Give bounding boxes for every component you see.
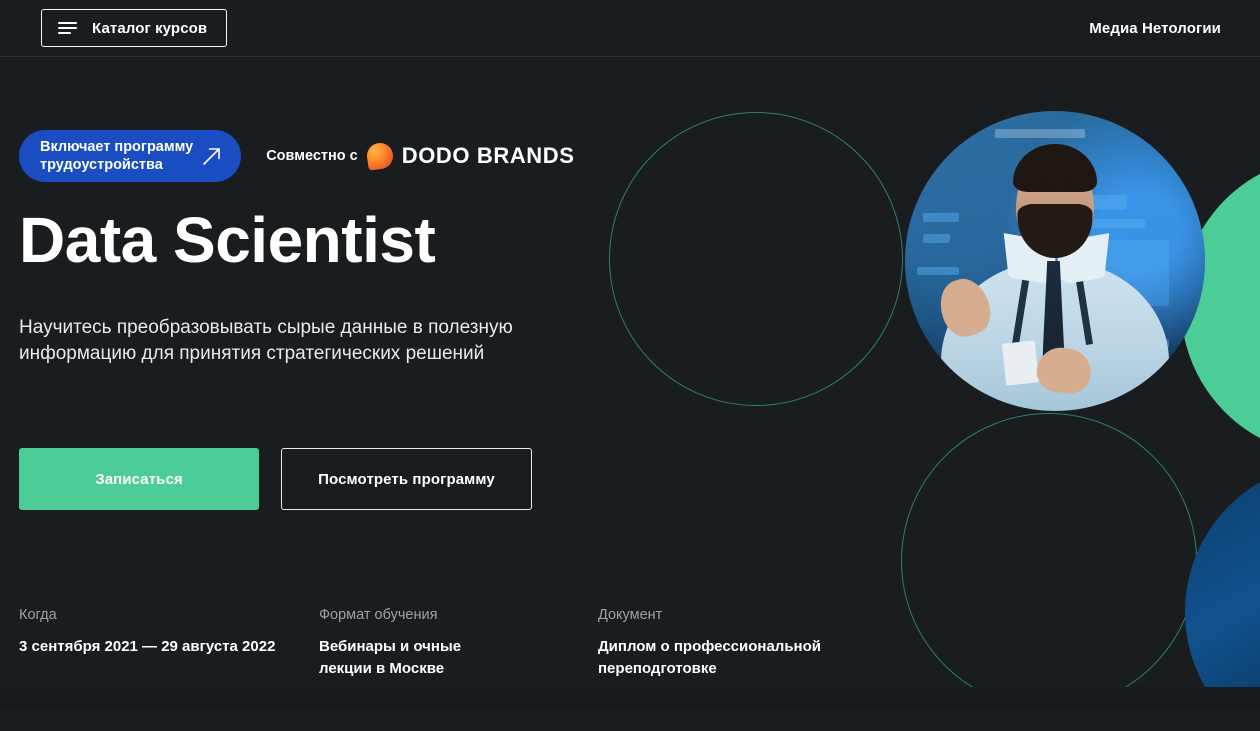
fact-label: Документ bbox=[598, 607, 898, 623]
fact-document: Документ Диплом о профессиональной переп… bbox=[598, 607, 898, 680]
hero-facts: Когда 3 сентября 2021 — 29 августа 2022 … bbox=[19, 607, 898, 680]
enroll-button[interactable]: Записаться bbox=[19, 448, 259, 510]
employment-program-badge-label: Включает программу трудоустройства bbox=[40, 138, 193, 174]
partner-block: Совместно с DODO BRANDS bbox=[266, 143, 574, 169]
media-netology-link[interactable]: Медиа Нетологии bbox=[1089, 20, 1238, 37]
fact-value: Вебинары и очные лекции в Москве bbox=[319, 636, 484, 680]
cta-row: Записаться Посмотреть программу bbox=[19, 448, 532, 510]
dodo-droplet-icon bbox=[365, 141, 394, 170]
arrow-up-right-icon bbox=[199, 143, 225, 169]
fact-format: Формат обучения Вебинары и очные лекции … bbox=[319, 607, 598, 680]
employment-program-badge[interactable]: Включает программу трудоустройства bbox=[19, 130, 241, 182]
hero-subtitle: Научитесь преобразовывать сырые данные в… bbox=[19, 315, 594, 367]
catalog-button[interactable]: Каталог курсов bbox=[41, 9, 227, 47]
page-title: Data Scientist bbox=[19, 207, 435, 274]
hero-section: Включает программу трудоустройства Совме… bbox=[0, 57, 1260, 709]
site-header: Каталог курсов Медиа Нетологии bbox=[0, 0, 1260, 57]
partner-prefix: Совместно с bbox=[266, 148, 358, 164]
section-divider bbox=[0, 687, 1260, 709]
presenter-photo bbox=[905, 111, 1205, 411]
fact-value: 3 сентября 2021 — 29 августа 2022 bbox=[19, 636, 304, 658]
dodo-brands-label: DODO BRANDS bbox=[402, 143, 575, 169]
catalog-button-label: Каталог курсов bbox=[92, 20, 207, 37]
hamburger-menu-icon bbox=[58, 22, 77, 35]
outline-circle-top bbox=[609, 112, 903, 406]
outline-circle-bottom bbox=[901, 413, 1197, 709]
green-circle-decor bbox=[1181, 156, 1260, 456]
fact-label: Когда bbox=[19, 607, 319, 623]
fact-value: Диплом о профессиональной переподготовке bbox=[598, 636, 848, 680]
data-screens-photo bbox=[1185, 462, 1260, 709]
badge-row: Включает программу трудоустройства Совме… bbox=[19, 130, 575, 182]
fact-label: Формат обучения bbox=[319, 607, 598, 623]
page-root: Каталог курсов Медиа Нетологии bbox=[0, 0, 1260, 731]
view-program-button[interactable]: Посмотреть программу bbox=[281, 448, 532, 510]
fact-when: Когда 3 сентября 2021 — 29 августа 2022 bbox=[19, 607, 319, 680]
